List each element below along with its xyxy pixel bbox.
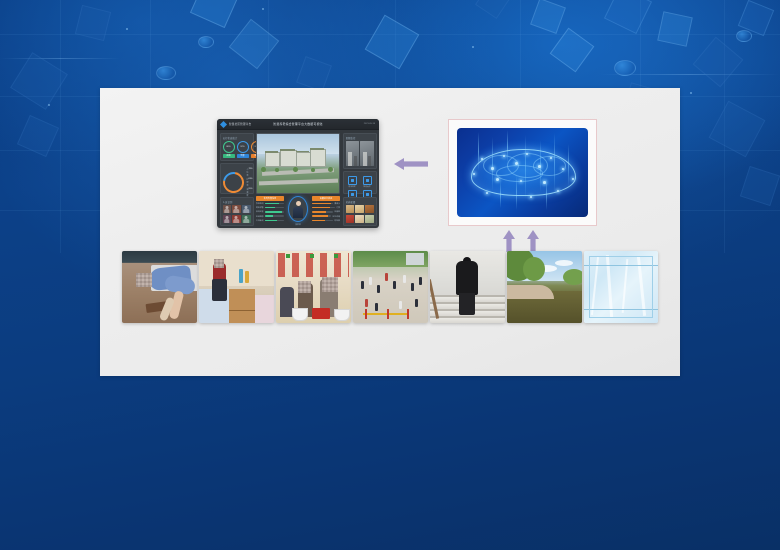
video-building [280,150,297,167]
node-dot [530,196,532,198]
list-item: 入住率 78% [247,168,253,177]
list-item: 区域越界 [256,215,284,218]
nav-icon-label: 健康档案 [348,185,355,188]
photo-person [411,283,414,291]
dashboard-right-column: 视频监控 功能导航 健康档案 [343,133,377,226]
arrow-up-icon [527,230,539,252]
pixelated-face [214,259,224,268]
stat-value: 63% [249,178,253,187]
row-label: 跌倒检测 [256,202,264,205]
person-thumb[interactable] [223,215,232,223]
video-road [262,168,334,176]
row-label: 呼叫器 [334,219,340,222]
video-building [310,149,326,167]
nav-icon-cell[interactable]: 智能看护 [361,176,374,189]
list-item: 定位终端 [312,215,340,218]
node-dot [538,165,541,168]
photo-person [403,275,406,283]
smart-care-icon [363,176,372,185]
gauge-ring: 92% [237,141,249,153]
food-thumb[interactable] [365,215,374,223]
food-thumb[interactable] [346,215,355,223]
photo-person [377,285,380,293]
photo-cabinet [229,289,255,323]
stat-value: 78% [249,168,253,177]
gauges-card-title: 运行状态统计 [223,136,251,140]
food-thumb[interactable] [365,205,374,213]
node-dot [520,180,522,182]
photo-person-legs [212,279,227,301]
slide-panel: 智慧社区管理平台 智慧养老综合管理平台大数据可视化 2021-05-18 运行状… [100,88,680,376]
row-bar [312,220,333,222]
deco-square [657,11,693,47]
dashboard-time: 2021-05-18 [364,123,375,125]
node-dot [543,181,546,184]
photo-item[interactable] [353,251,428,323]
pixelated-face [136,273,152,287]
photo-wall [199,251,274,286]
list-item: 久滞未动 [256,219,284,222]
list-item: 传感器 [312,210,340,213]
arrow-up-icon [503,230,515,252]
health-record-icon [348,176,357,185]
deco-dot [472,46,474,48]
dashboard-title: 智慧养老综合管理平台大数据可视化 [273,122,323,126]
food-thumb[interactable] [346,205,355,213]
main-video-panel[interactable] [256,133,340,194]
node-dot [503,155,505,157]
photo-person [365,299,368,307]
row-bar [312,207,335,209]
arrow-left-icon [394,157,428,171]
row-bar [265,220,284,222]
device-list-title: 设备运行状态 [312,196,340,201]
avatar-block: 张某某 [286,196,310,226]
donut-chart [218,168,247,197]
donut-card: 服务分布 入住率 78% 护理率 63% [220,163,254,194]
photo-item[interactable] [584,251,658,323]
pixelated-face [298,281,311,293]
row-label: 久滞未动 [256,219,264,222]
deco-dot [48,104,50,106]
deco-circle [614,60,636,76]
node-dot [473,173,475,175]
person-thumb[interactable] [242,205,251,213]
node-dot [481,158,483,160]
alert-list-column: 实时告警信息 跌倒检测 离床预警 夜间巡查 [256,196,284,226]
food-grid [346,205,374,222]
row-bar [265,203,284,205]
avatar-name: 张某某 [295,223,301,226]
device-list-column: 设备运行状态 摄像头 门禁 传感器 [312,196,340,226]
photo-decoration-dot [286,254,290,258]
row-bar [265,211,284,213]
video-road [259,178,338,184]
nav-icon-cell[interactable]: 健康档案 [346,176,359,189]
list-item: 夜间巡查 [256,210,284,213]
photo-person [419,277,422,285]
photo-object [292,308,308,321]
node-dot [557,190,559,192]
person-thumb[interactable] [232,205,241,213]
accent-line [0,58,120,59]
photo-item[interactable] [507,251,582,323]
photo-item[interactable] [276,251,351,323]
camera-feed[interactable] [346,141,360,166]
row-bar [265,207,284,209]
photo-post [407,309,409,319]
stat-value: 95% [249,188,253,197]
photo-object [312,308,330,319]
dashboard-body: 运行状态统计 86% 在线 92% 告警 74% 处理 [217,130,379,228]
list-item: 门禁 [312,206,340,209]
video-building [296,152,310,168]
food-thumb[interactable] [355,205,364,213]
row-bar [265,215,284,217]
gauge-ring: 86% [223,141,235,153]
photo-person [385,273,388,281]
photo-person [375,303,378,311]
photo-person-body [456,261,478,295]
donut-stats-list: 入住率 78% 护理率 63% 满意度 95% [247,168,253,197]
camera-card: 视频监控 [343,133,377,169]
list-item: 摄像头 [312,202,340,205]
person-thumbs-title: 人员识别 [223,200,251,204]
video-building [265,152,280,167]
food-thumb[interactable] [355,215,364,223]
photo-person [393,281,396,289]
photo-person [361,281,364,289]
photo-path [507,285,554,299]
food-card: 营养配餐 [343,197,377,226]
photo-decoration-dot [310,254,314,258]
donut-row: 入住率 78% 护理率 63% 满意度 95% [223,168,251,197]
ai-brain-panel[interactable] [448,119,597,226]
camera-card-title: 视频监控 [346,136,374,140]
photo-tree [523,257,545,281]
photo-cabinet-line [229,310,255,311]
row-bar [312,211,333,213]
nav-icon-label: 智能看护 [363,185,370,188]
photo-object [334,309,350,321]
list-item: 离床预警 [256,206,284,209]
dashboard-screenshot[interactable]: 智慧社区管理平台 智慧养老综合管理平台大数据可视化 2021-05-18 运行状… [217,119,379,228]
photo-person [369,277,372,285]
deco-circle [156,66,176,80]
photo-post [387,309,389,319]
row-label: 摄像头 [334,202,340,205]
person-thumb-grid [223,205,251,222]
row-label: 区域越界 [256,215,264,218]
ai-brain-illustration [457,128,588,217]
list-item: 护理率 63% [247,178,253,187]
grid-line-vertical [60,0,61,253]
gauge-chip[interactable]: 在线 [223,154,235,158]
alert-list-title: 实时告警信息 [256,196,284,201]
node-dot [515,162,518,165]
camera-feed[interactable] [360,141,374,166]
person-thumb[interactable] [242,215,251,223]
node-dot [562,168,564,170]
video-roof [280,149,295,151]
photo-cloud [555,260,573,266]
person-thumbs-card: 人员识别 [220,197,254,226]
gauge-item[interactable]: 92% 告警 [237,141,249,158]
photo-person-legs [459,293,475,315]
deco-circle [736,30,752,42]
camera-grid [346,141,374,166]
food-card-title: 营养配餐 [346,200,374,204]
node-dot [486,192,488,194]
person-thumb[interactable] [223,205,232,213]
info-row: 实时告警信息 跌倒检测 离床预警 夜间巡查 [256,196,340,226]
deco-dot [690,92,692,94]
photo-object [245,271,249,283]
photo-frame [589,256,653,318]
row-label: 门禁 [336,206,340,209]
person-thumb[interactable] [232,215,241,223]
row-bar [312,203,333,205]
icons-card: 功能导航 健康档案 智能看护 应急呼叫 [343,171,377,194]
avatar [288,196,308,222]
photo-person [415,299,418,307]
photo-decoration-dot [334,254,338,258]
dashboard-header: 智慧社区管理平台 智慧养老综合管理平台大数据可视化 2021-05-18 [217,119,379,130]
list-item: 呼叫器 [312,219,340,222]
gauges-card: 运行状态统计 86% 在线 92% 告警 74% 处理 [220,133,254,161]
deco-dot [262,8,264,10]
list-item: 满意度 95% [247,188,253,197]
row-label: 传感器 [334,210,340,213]
photo-stair-edge [430,316,505,318]
photo-post [365,309,367,319]
pixelated-face [322,277,338,292]
deco-circle [198,36,214,48]
video-roof [296,151,308,153]
photo-strip [122,251,678,323]
gauge-group: 86% 在线 92% 告警 74% 处理 [223,141,251,158]
row-label: 定位终端 [332,215,340,218]
photo-person [399,301,402,309]
list-item: 跌倒检测 [256,202,284,205]
row-bar [312,215,331,217]
gauge-item[interactable]: 86% 在线 [223,141,235,158]
logo-icon [220,120,227,127]
video-roof [310,148,324,150]
photo-building [406,253,424,265]
gauge-chip[interactable]: 告警 [237,154,249,158]
node-dot [491,167,494,170]
row-label: 离床预警 [256,206,264,209]
row-label: 夜间巡查 [256,210,264,213]
dashboard-left-column: 运行状态统计 86% 在线 92% 告警 74% 处理 [220,133,254,226]
dashboard-center-column: 实时告警信息 跌倒检测 离床预警 夜间巡查 [256,133,340,226]
deco-dot [126,28,128,30]
arrow-up-group [498,230,550,252]
photo-fence [363,313,409,315]
video-roof [265,151,278,153]
photo-object [239,269,243,283]
photo-item[interactable] [199,251,274,323]
photo-item[interactable] [430,251,505,323]
photo-item[interactable] [122,251,197,323]
dashboard-brand: 智慧社区管理平台 [229,122,251,126]
photo-tree [563,269,582,285]
